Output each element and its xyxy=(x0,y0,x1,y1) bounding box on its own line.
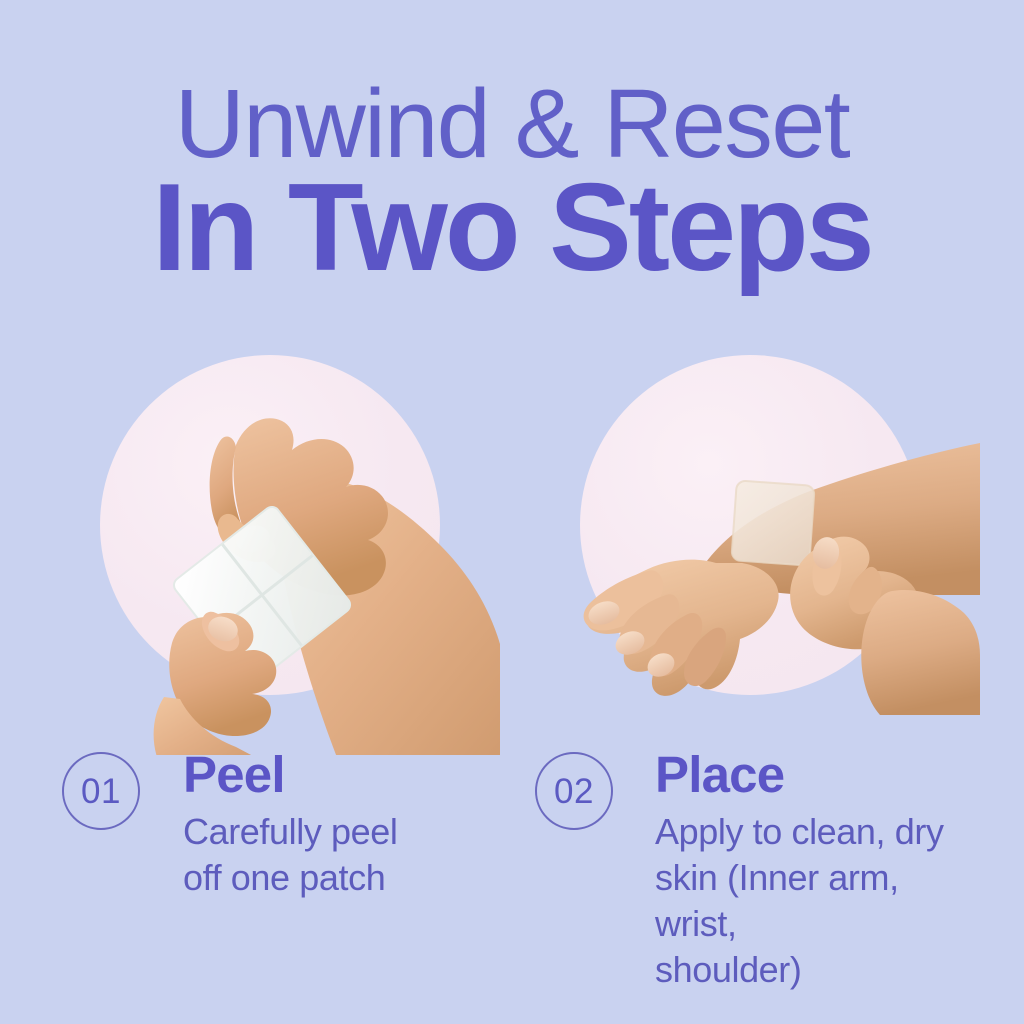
photo-disc-background xyxy=(580,355,920,695)
step-description: Carefully peel off one patch xyxy=(183,809,483,901)
title-line-two: In Two Steps xyxy=(0,166,1024,290)
poster-canvas: Unwind & Reset In Two Steps xyxy=(0,0,1024,1024)
photo-peel xyxy=(100,355,440,695)
step-title: Peel xyxy=(183,746,483,804)
step-number-badge: 01 xyxy=(62,752,140,830)
step-text-block: Peel Carefully peel off one patch xyxy=(183,746,483,901)
step-title: Place xyxy=(655,746,975,804)
step-text-block: Place Apply to clean, dry skin (Inner ar… xyxy=(655,746,975,993)
step-number-badge: 02 xyxy=(535,752,613,830)
step-number: 02 xyxy=(554,774,594,809)
photo-disc-background xyxy=(100,355,440,695)
step-number: 01 xyxy=(81,774,121,809)
page-title: Unwind & Reset In Two Steps xyxy=(0,74,1024,290)
photo-place xyxy=(580,355,920,695)
step-description: Apply to clean, dry skin (Inner arm, wri… xyxy=(655,809,975,993)
